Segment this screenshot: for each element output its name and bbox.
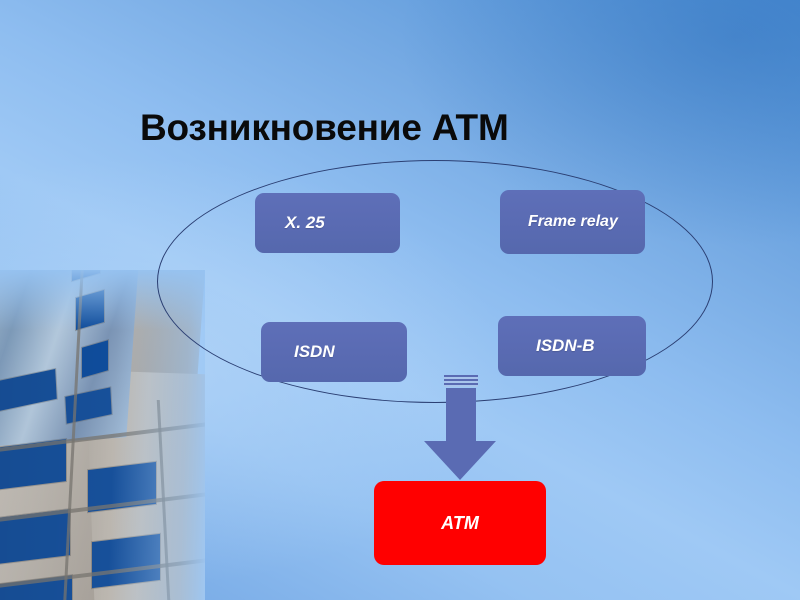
page-title: Возникновение ATM xyxy=(140,108,660,149)
slide-canvas: Возникновение ATM X. 25 Frame relay ISDN… xyxy=(0,0,800,600)
node-label: ATM xyxy=(441,513,479,534)
node-box-atm[interactable]: ATM xyxy=(374,481,546,565)
node-label: Frame relay xyxy=(528,213,645,232)
node-label: X. 25 xyxy=(285,213,400,233)
arrow-stripes xyxy=(444,375,478,387)
node-box-x25[interactable]: X. 25 xyxy=(255,193,400,253)
arrow-shaft xyxy=(446,388,476,443)
down-arrow-icon[interactable] xyxy=(424,375,496,480)
node-box-isdn-b[interactable]: ISDN-B xyxy=(498,316,646,376)
arrow-head xyxy=(424,441,496,480)
node-box-frame-relay[interactable]: Frame relay xyxy=(500,190,645,254)
node-label: ISDN xyxy=(294,342,407,362)
node-box-isdn[interactable]: ISDN xyxy=(261,322,407,382)
node-label: ISDN-B xyxy=(536,336,646,356)
